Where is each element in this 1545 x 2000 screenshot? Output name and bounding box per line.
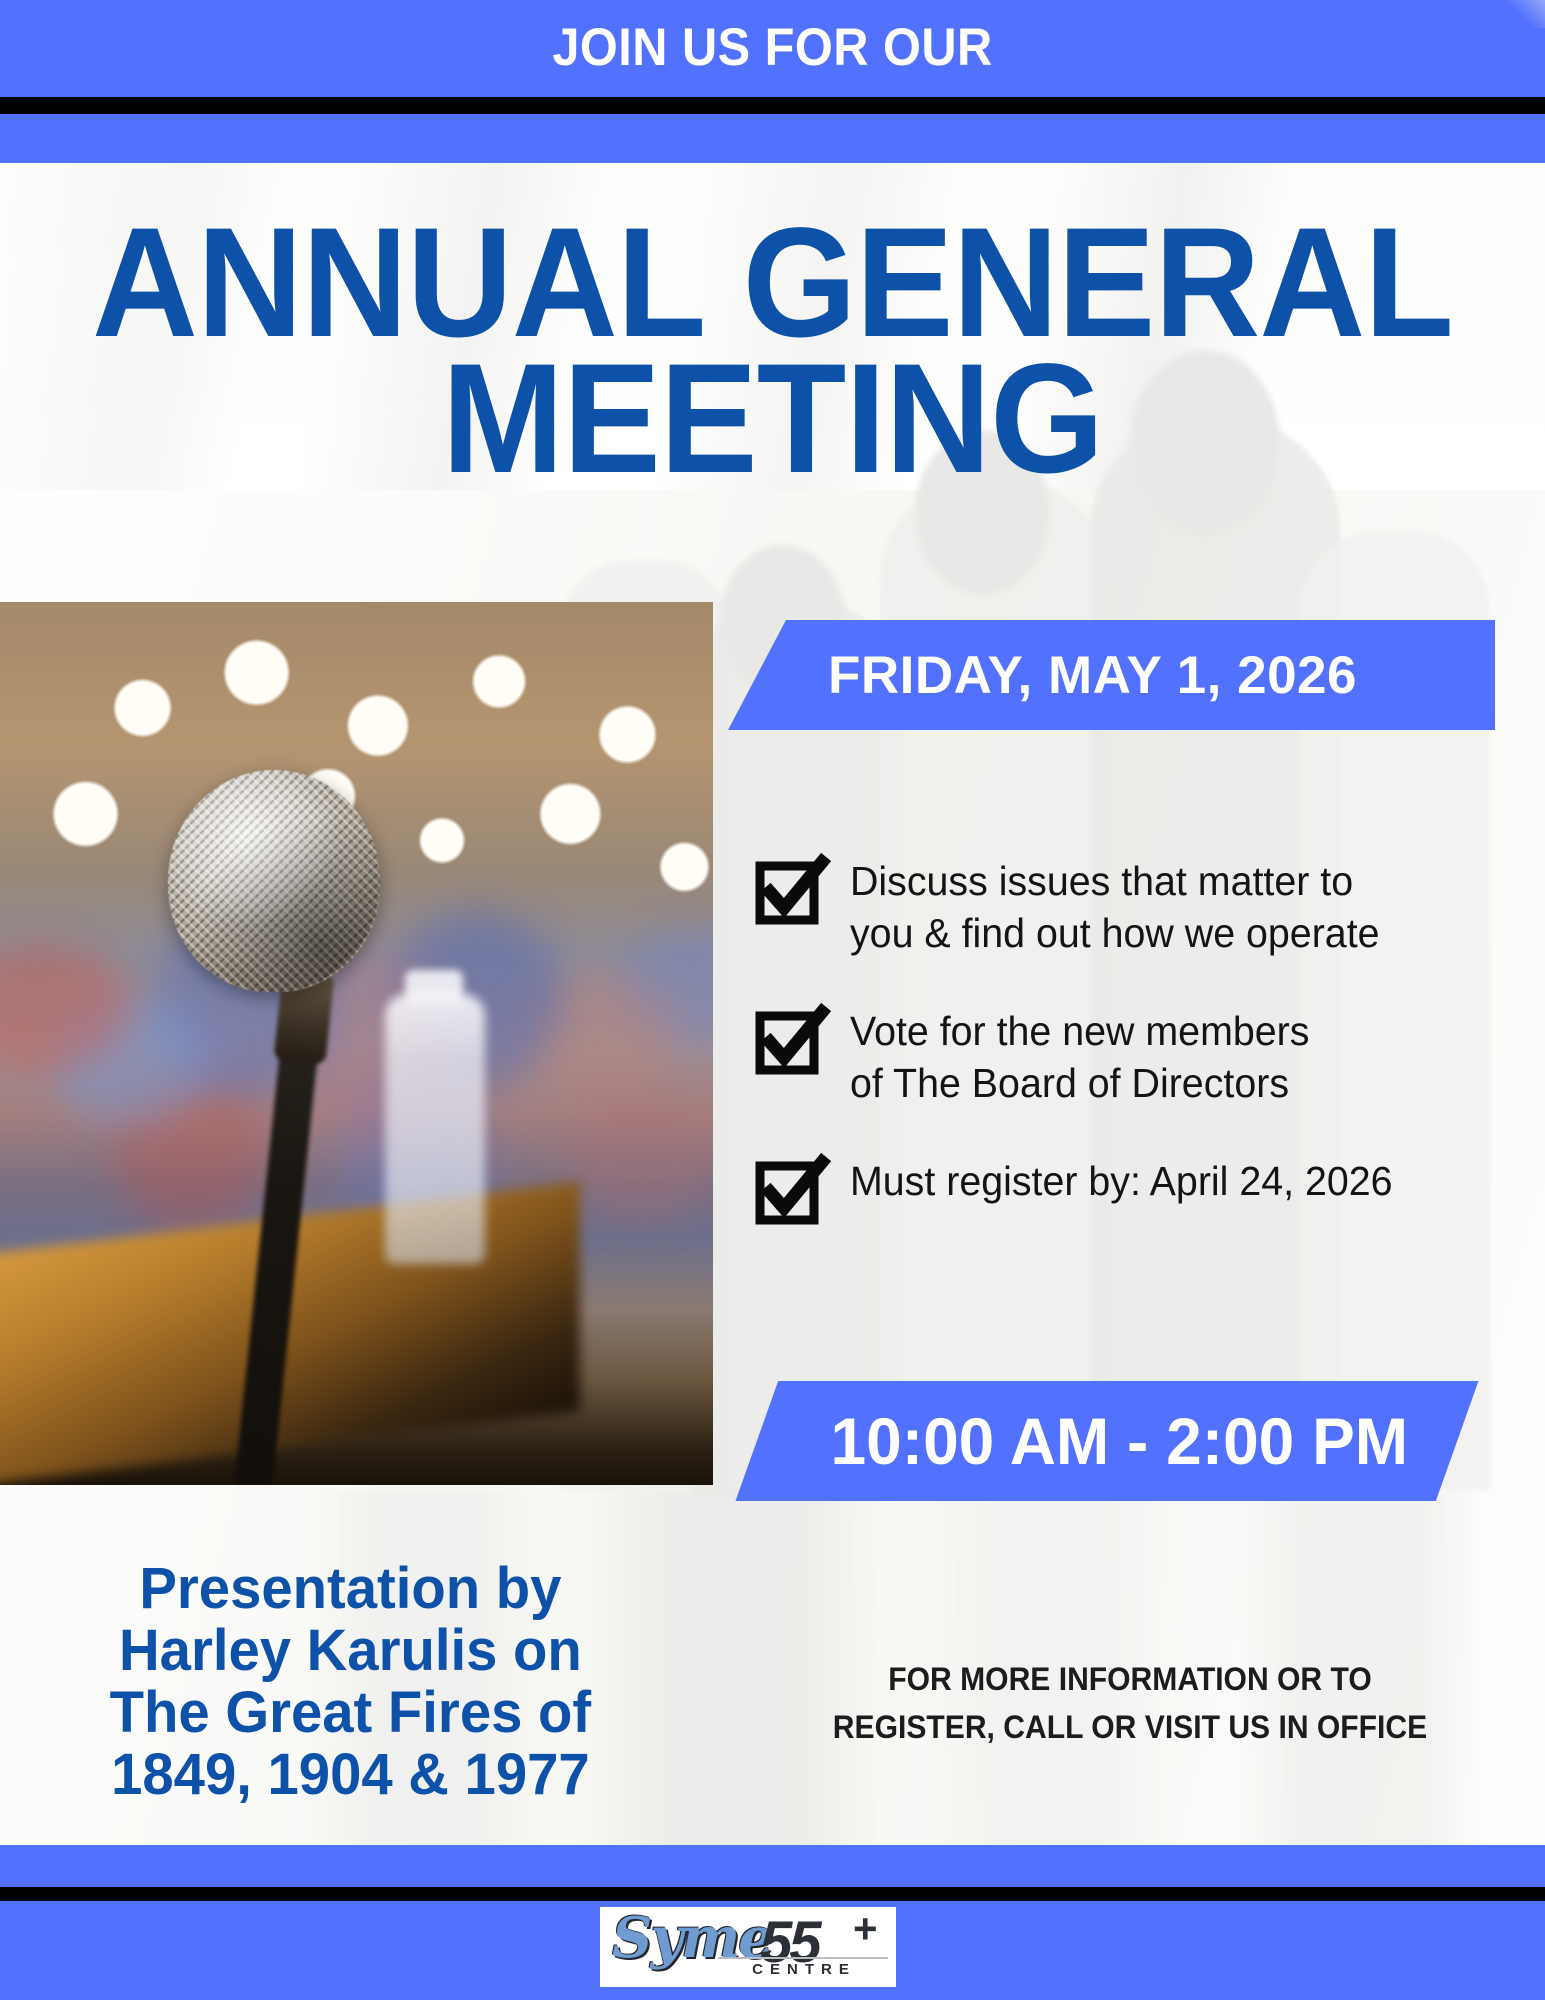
time-banner: 10:00 AM - 2:00 PM — [735, 1381, 1478, 1501]
date-banner-label: FRIDAY, MAY 1, 2026 — [828, 645, 1357, 706]
checklist-item-line: Vote for the new members — [850, 1005, 1309, 1057]
more-information-line: REGISTER, CALL OR VISIT US IN OFFICE — [782, 1703, 1478, 1751]
checklist-item-text: Vote for the new members of The Board of… — [850, 1005, 1309, 1109]
checklist-item-line: Must register by: April 24, 2026 — [850, 1155, 1393, 1207]
checkbox-checked-icon — [758, 863, 820, 925]
checkbox-checked-icon — [758, 1013, 820, 1075]
presentation-note: Presentation by Harley Karulis on The Gr… — [40, 1558, 661, 1806]
checklist-item-text: Discuss issues that matter to you & find… — [850, 855, 1380, 959]
time-banner-label: 10:00 AM - 2:00 PM — [831, 1403, 1409, 1479]
microphone-shading — [168, 770, 380, 992]
join-us-heading: JOIN US FOR OUR — [62, 8, 1483, 88]
presentation-line: The Great Fires of — [40, 1682, 661, 1744]
more-information-note: FOR MORE INFORMATION OR TO REGISTER, CAL… — [782, 1655, 1478, 1751]
checklist-item-line: of The Board of Directors — [850, 1057, 1309, 1109]
date-banner: FRIDAY, MAY 1, 2026 — [728, 620, 1495, 730]
logo-plus-sign: + — [853, 1907, 878, 1953]
presentation-line: Presentation by — [40, 1558, 661, 1620]
syme-55-plus-logo: Syme 55 + CENTRE — [600, 1907, 896, 1987]
logo-subtitle: CENTRE — [718, 1961, 890, 1978]
top-black-rule — [0, 97, 1545, 114]
title-line-2: MEETING — [46, 351, 1498, 487]
corner-accent — [1505, 0, 1545, 28]
checkbox-checked-icon — [758, 1163, 820, 1225]
logo-divider — [718, 1957, 888, 1959]
checklist-item: Vote for the new members of The Board of… — [758, 1005, 1498, 1109]
checklist-item-line: you & find out how we operate — [850, 907, 1380, 959]
checklist-item: Discuss issues that matter to you & find… — [758, 855, 1498, 959]
more-information-line: FOR MORE INFORMATION OR TO — [782, 1655, 1478, 1703]
checklist-item: Must register by: April 24, 2026 — [758, 1155, 1498, 1225]
poster: JOIN US FOR OUR ANNUAL GENERAL MEETING F… — [0, 0, 1545, 2000]
checklist: Discuss issues that matter to you & find… — [758, 855, 1498, 1271]
microphone-grille — [168, 770, 380, 992]
water-bottle-cap — [405, 970, 463, 1004]
page-title: ANNUAL GENERAL MEETING — [46, 215, 1498, 487]
presentation-line: Harley Karulis on — [40, 1620, 661, 1682]
bottom-blue-bar — [0, 1845, 1545, 1887]
bottom-black-rule — [0, 1887, 1545, 1901]
microphone-photo — [0, 602, 713, 1485]
water-bottle — [385, 994, 485, 1264]
checklist-item-line: Discuss issues that matter to — [850, 855, 1380, 907]
presentation-line: 1849, 1904 & 1977 — [40, 1744, 661, 1806]
checklist-item-text: Must register by: April 24, 2026 — [850, 1155, 1393, 1207]
top-blue-bar-secondary — [0, 114, 1545, 163]
